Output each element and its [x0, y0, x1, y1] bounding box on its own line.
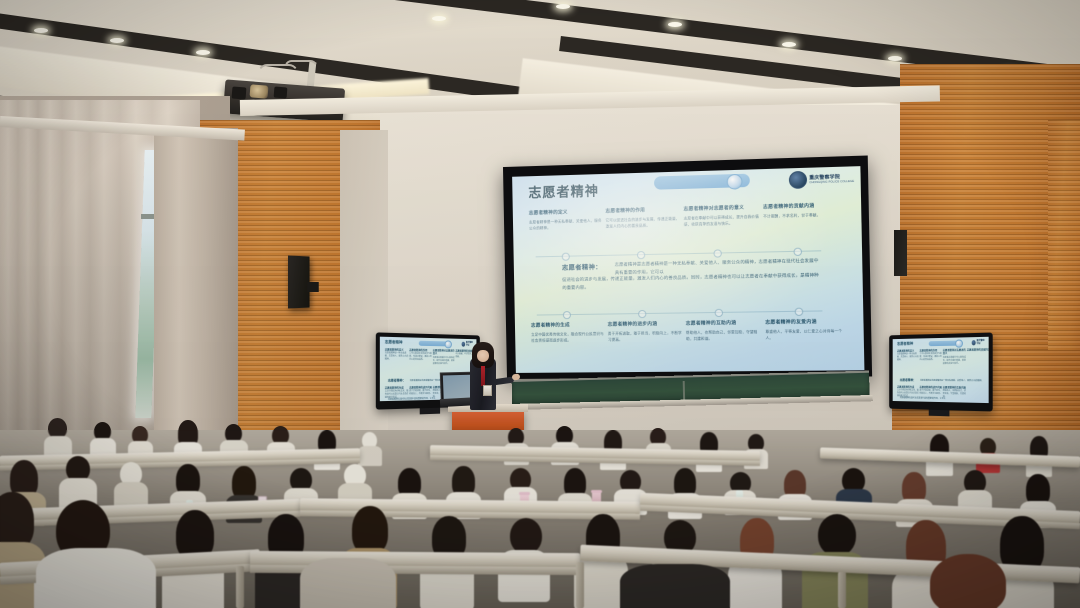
slide-node [793, 248, 802, 256]
downlight-icon [196, 50, 210, 55]
mini-column: 志愿者精神对志愿者的意义 志愿者在奉献中可以获得成长，提升自我价值感，收获真挚的… [943, 349, 966, 366]
slide-column: 志愿者精神的定义 志愿者精神是一种无私奉献、关爱他人、服务公众的精神。 [529, 208, 604, 231]
mini-column-body: 它可以促进社会的进步与发展，传递正能量，激发人们内心的善良品质。 [920, 353, 942, 362]
right-display-slide: 志愿者精神 重庆警察学院 志愿者精神的定义 志愿者精神是一种无私奉献、关爱他人、… [893, 337, 989, 403]
slide-connector-line [537, 310, 823, 315]
projected-slide: 志愿者精神 重庆警察学院 CHONGQING POLICE COLLEGE 志愿… [512, 166, 864, 373]
wall-speaker-right [894, 230, 907, 276]
presenter-id-badge [483, 385, 492, 396]
slide-column: 志愿者精神的生成 立足中国优秀传统文化，融合现代公民意识与社会责任感而逐步形成。 [531, 322, 606, 344]
mini-column: 志愿者精神的贡献内涵 [967, 348, 989, 352]
presenter-face [477, 350, 489, 362]
slide-node [795, 308, 804, 316]
downlight-icon [34, 28, 48, 33]
right-repeater-display: 志愿者精神 重庆警察学院 志愿者精神的定义 志愿者精神是一种无私奉献、关爱他人、… [889, 333, 993, 412]
slide-column-body: 立足中国优秀传统文化，融合现代公民意识与社会责任感而逐步形成。 [531, 332, 606, 344]
mini-column-body: 它可以促进社会的进步与发展，传递正能量，激发人们内心的善良品质。 [409, 353, 432, 362]
slide-column: 志愿者精神对志愿者的意义 志愿者在奉献中可以获得成长，提升自我价值感，收获真挚的… [683, 204, 761, 228]
mini-column: 志愿者精神的作用 它可以促进社会的进步与发展，传递正能量，激发人们内心的善良品质… [409, 349, 432, 363]
mini-column: 志愿者精神对志愿者的意义 志愿者在奉献中可以获得成长，提升自我价值感，收获真挚的… [433, 349, 455, 366]
mini-column-title: 志愿者精神的贡献内涵 [967, 348, 989, 352]
lecture-hall-photo: 志愿者精神 重庆警察学院 CHONGQING POLICE COLLEGE 志愿… [0, 0, 1080, 608]
seal-emblem-icon [789, 171, 807, 189]
slide-column: 志愿者精神的进步内涵 勇于开拓进取，敢于担当，积极向上，不断学习提高。 [608, 321, 684, 343]
mini-center-label: 志愿者精神： [388, 378, 406, 382]
mini-column: 志愿者精神的生成 立足中国优秀传统文化，融合现代公民意识与社会责任感而逐步形成。 [897, 386, 919, 399]
mini-column-title: 志愿者精神对志愿者的意义 [943, 349, 966, 356]
mini-column-body: 志愿者在奉献中可以获得成长，提升自我价值感，收获真挚的友谊与快乐。 [943, 356, 966, 365]
slide-column-body: 勇于开拓进取，敢于担当，积极向上，不断学习提高。 [608, 331, 684, 343]
downlight-icon [432, 16, 446, 21]
slide-column-title: 志愿者精神的定义 [529, 208, 604, 217]
projector-lens [250, 84, 269, 98]
slide-center-text-continued: 促进社会的进步与发展，传递正能量，激发人们内心的善良品质。同时，志愿者精神也可以… [562, 271, 822, 291]
mini-logo-institution: 重庆警察学院 [976, 339, 985, 345]
audience-row-foreground [0, 540, 1080, 608]
mini-column-body: 勇于开拓进取，敢于担当，积极向上，不断学习提高。 [920, 390, 942, 396]
seal-emblem-icon [462, 341, 465, 346]
slide-column: 志愿者精神的作用 它可以促进社会的进步与发展，传递正能量，激发人们内心的善良品质… [605, 206, 681, 229]
slide-node [715, 309, 724, 317]
slide-connector-line [536, 250, 822, 257]
mini-header-dot-icon [445, 340, 452, 348]
window-mullion [141, 214, 155, 219]
mini-column-body: 立足中国优秀传统文化，融合现代公民意识与社会责任感而逐步形成。 [385, 391, 408, 401]
slide-column-body: 志愿者精神是一种无私奉献、关爱他人、服务公众的精神。 [529, 218, 604, 231]
mini-column-body: 立足中国优秀传统文化，融合现代公民意识与社会责任感而逐步形成。 [897, 390, 919, 399]
mini-column: 志愿者精神的作用 它可以促进社会的进步与发展，传递正能量，激发人们内心的善良品质… [920, 349, 942, 363]
mini-column-body: 勇于开拓进取，敢于担当，积极向上，不断学习提高。 [409, 390, 432, 396]
slide-node [562, 253, 570, 261]
mini-column-body: 志愿者在奉献中可以获得成长，提升自我价值感，收获真挚的友谊与快乐。 [433, 357, 455, 366]
downlight-icon [556, 4, 570, 9]
slide-column-title: 志愿者精神的进步内涵 [608, 321, 684, 329]
slide-node [563, 311, 571, 319]
mini-slide-logo: 重庆警察学院 [972, 339, 986, 345]
mini-column: 志愿者精神的定义 志愿者精神是一种无私奉献、关爱他人、服务公众的精神。 [385, 348, 408, 362]
slide-logo-subtitle: CHONGQING POLICE COLLEGE [809, 180, 854, 184]
slide-column: 志愿者精神的友爱内涵 尊重他人，平等友爱，以仁爱之心对待每一个人。 [765, 318, 844, 341]
downlight-icon [668, 22, 682, 27]
downlight-icon [110, 38, 124, 43]
mini-column-body: 志愿者精神是一种无私奉献、关爱他人、服务公众的精神。 [897, 354, 919, 363]
mini-header-dot-icon [955, 339, 962, 347]
projector-vent [274, 87, 288, 99]
slide-column-title: 志愿者精神的作用 [605, 206, 681, 215]
mini-column: 志愿者精神的定义 志愿者精神是一种无私奉献、关爱他人、服务公众的精神。 [897, 349, 919, 362]
slide-column-body: 不计报酬，不求名利，甘于奉献。 [763, 212, 842, 220]
downlight-icon [888, 56, 902, 61]
slide-column: 志愿者精神的互助内涵 帮助他人，也帮助自己，邻里互助，守望相助，共建和谐。 [686, 320, 764, 343]
mini-column: 志愿者精神的互助内涵 帮助他人，也帮助自己，邻里互助，守望相助，共建和谐。 [943, 386, 966, 400]
slide-column-title: 志愿者精神的生成 [531, 322, 606, 330]
projector-vent [232, 86, 247, 99]
presenter-lanyard [481, 366, 485, 386]
slide-column-title: 志愿者精神的友爱内涵 [765, 318, 844, 326]
mini-column: 志愿者精神的进步内涵 勇于开拓进取，敢于担当，积极向上，不断学习提高。 [920, 386, 942, 397]
mini-center-label: 志愿者精神： [900, 378, 916, 382]
slide-node [637, 251, 645, 259]
slide-column-title: 志愿者精神对志愿者的意义 [683, 204, 760, 213]
mini-slide-logo: 重庆警察学院 [462, 341, 474, 347]
mini-column: 志愿者精神的进步内涵 勇于开拓进取，敢于担当，积极向上，不断学习提高。 [409, 386, 432, 397]
slide-node [713, 249, 722, 257]
slide-column-body: 它可以促进社会的进步与发展，传递正能量，激发人们内心的善良品质。 [606, 216, 682, 229]
slide-center-callout: 志愿者精神： 志愿者精神是志愿者精神是一种无私奉献、关爱他人、服务公众的精神，志… [536, 257, 823, 309]
projection-screen: 志愿者精神 重庆警察学院 CHONGQING POLICE COLLEGE 志愿… [503, 155, 872, 379]
slide-column-title: 志愿者精神的贡献内涵 [763, 202, 842, 211]
slide-logo: 重庆警察学院 CHONGQING POLICE COLLEGE [789, 169, 854, 189]
slide-header-dot-icon [727, 174, 743, 190]
slide-title: 志愿者精神 [528, 180, 599, 201]
mini-column-body: 志愿者精神是一种无私奉献、关爱他人、服务公众的精神。 [385, 353, 408, 362]
slide-column-body: 帮助他人，也帮助自己，邻里互助，守望相助，共建和谐。 [686, 330, 764, 343]
mini-column-body: 帮助他人，也帮助自己，邻里互助，守望相助，共建和谐。 [943, 390, 966, 399]
slide-center-label: 志愿者精神： [562, 262, 602, 272]
downlight-icon [782, 42, 796, 47]
slide-column-title: 志愿者精神的互助内涵 [686, 320, 764, 328]
slide-column-body: 尊重他人，平等友爱，以仁爱之心对待每一个人。 [765, 329, 844, 342]
mini-slide-title: 志愿者精神 [897, 342, 913, 347]
slide-column-body: 志愿者在奉献中可以获得成长，提升自我价值感，收获真挚的友谊与快乐。 [684, 214, 762, 228]
mini-column-title: 志愿者精神对志愿者的意义 [433, 349, 455, 356]
slide-node [638, 310, 646, 318]
mini-column: 志愿者精神的生成 立足中国优秀传统文化，融合现代公民意识与社会责任感而逐步形成。 [385, 386, 408, 400]
speaker-bracket [307, 282, 319, 292]
seal-emblem-icon [972, 340, 976, 345]
slide-column: 志愿者精神的贡献内涵 不计报酬，不求名利，甘于奉献。 [763, 202, 842, 220]
mini-slide-title: 志愿者精神 [385, 340, 403, 346]
